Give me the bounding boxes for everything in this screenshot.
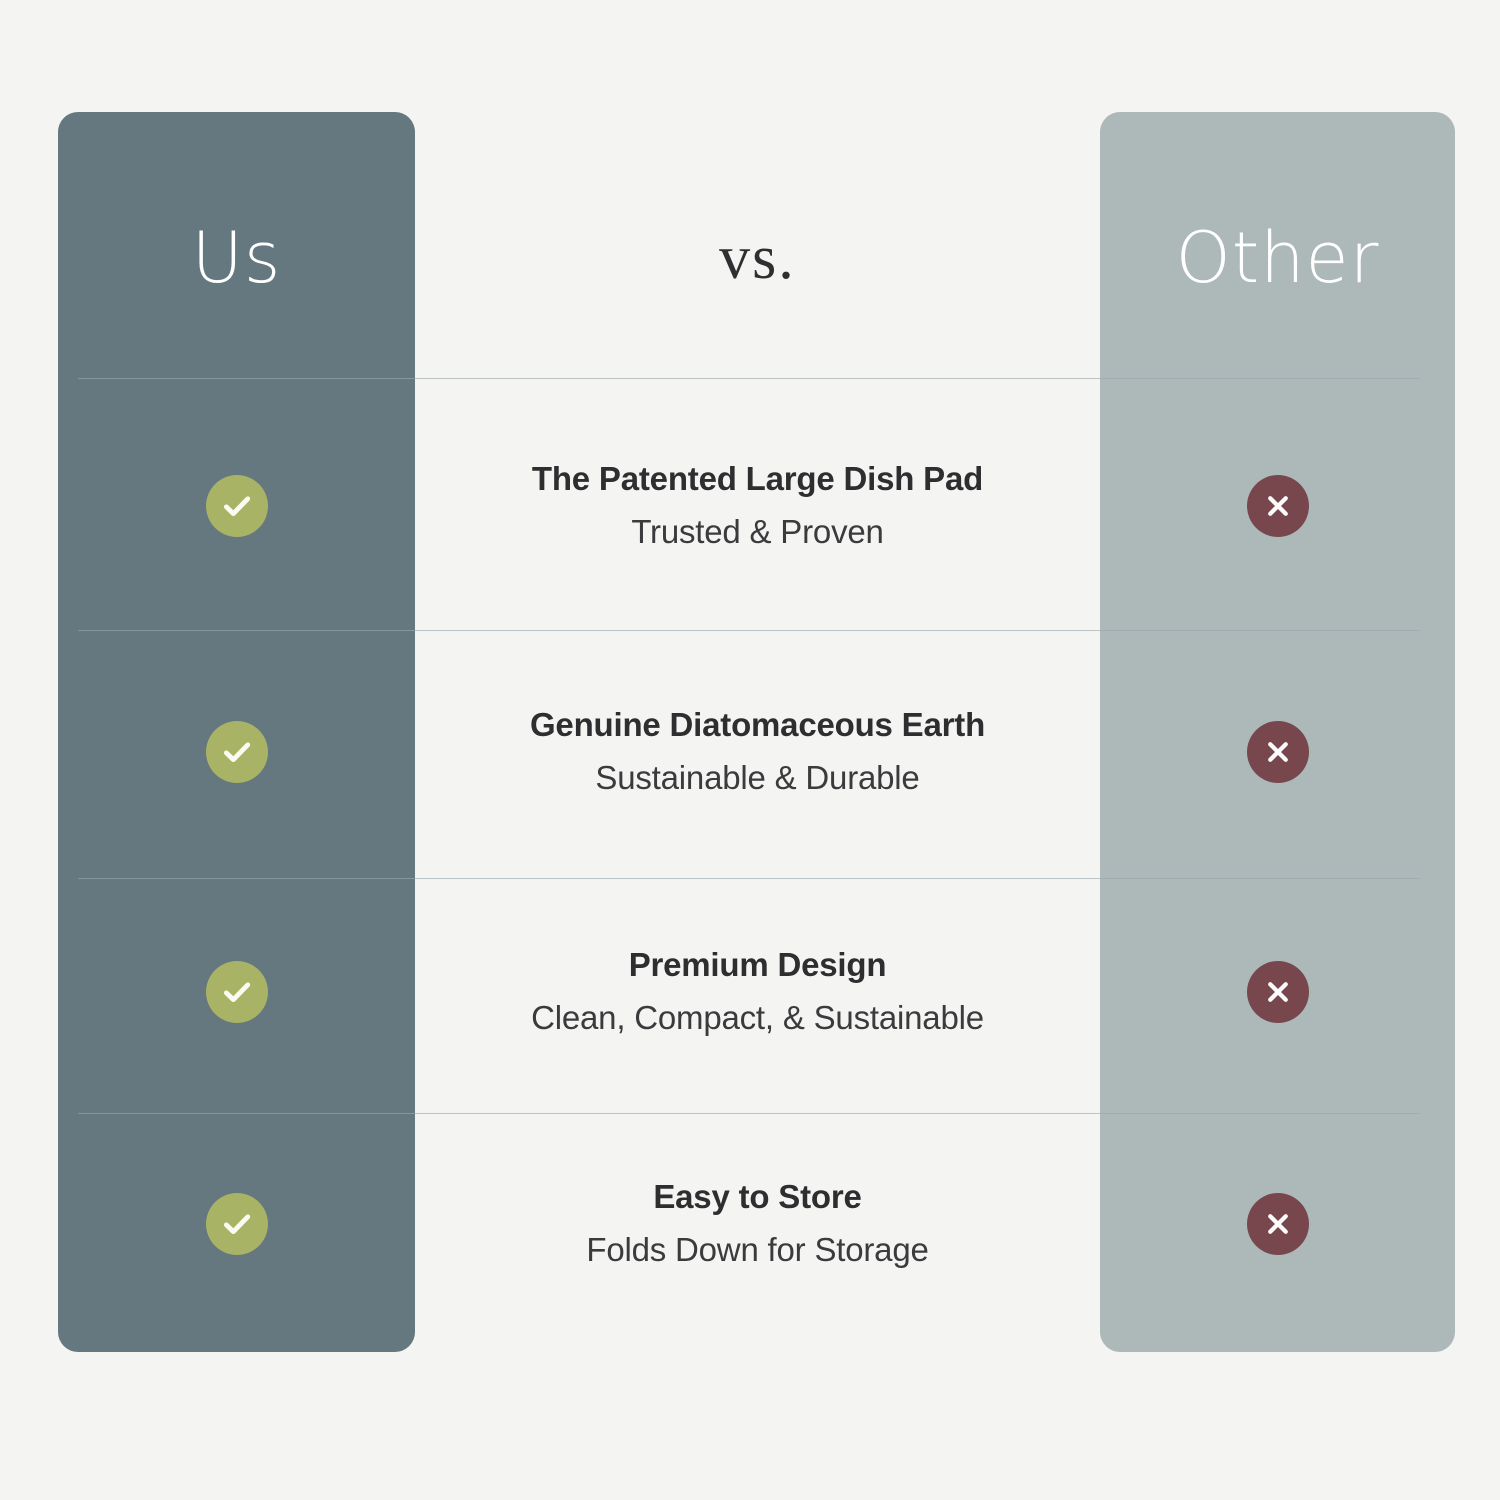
cross-icon [1247, 961, 1309, 1023]
us-mark-cell [58, 382, 415, 630]
feature-cell: Easy to Store Folds Down for Storage [415, 1100, 1100, 1348]
other-mark-cell [1100, 382, 1455, 630]
us-column-header: Us [58, 206, 415, 310]
other-column-header: Other [1100, 206, 1455, 310]
other-mark-cell [1100, 868, 1455, 1116]
feature-title: Easy to Store [653, 1178, 861, 1217]
versus-header-label: vs. [719, 227, 796, 289]
feature-subtitle: Folds Down for Storage [586, 1231, 928, 1270]
cross-icon [1247, 475, 1309, 537]
us-mark-cell [58, 1100, 415, 1348]
feature-title: Genuine Diatomaceous Earth [530, 706, 985, 745]
cross-icon [1247, 721, 1309, 783]
other-mark-cell [1100, 628, 1455, 876]
feature-subtitle: Trusted & Proven [631, 513, 883, 552]
check-icon [206, 1193, 268, 1255]
feature-subtitle: Clean, Compact, & Sustainable [531, 999, 984, 1038]
other-mark-cell [1100, 1100, 1455, 1348]
table-row: Genuine Diatomaceous Earth Sustainable &… [0, 628, 1500, 876]
us-mark-cell [58, 628, 415, 876]
check-icon [206, 721, 268, 783]
check-icon [206, 961, 268, 1023]
table-row: Premium Design Clean, Compact, & Sustain… [0, 868, 1500, 1116]
us-column-header-label: Us [192, 223, 282, 293]
other-column-header-label: Other [1176, 223, 1380, 293]
cross-icon [1247, 1193, 1309, 1255]
comparison-table: Us vs. Other The Patented Large Dish Pad… [0, 0, 1500, 1500]
feature-title: Premium Design [629, 946, 887, 985]
check-icon [206, 475, 268, 537]
feature-cell: Genuine Diatomaceous Earth Sustainable &… [415, 628, 1100, 876]
feature-cell: Premium Design Clean, Compact, & Sustain… [415, 868, 1100, 1116]
feature-cell: The Patented Large Dish Pad Trusted & Pr… [415, 382, 1100, 630]
table-row: Easy to Store Folds Down for Storage [0, 1100, 1500, 1348]
feature-title: The Patented Large Dish Pad [532, 460, 983, 499]
table-row: The Patented Large Dish Pad Trusted & Pr… [0, 382, 1500, 630]
us-mark-cell [58, 868, 415, 1116]
versus-header: vs. [415, 206, 1100, 310]
feature-subtitle: Sustainable & Durable [595, 759, 919, 798]
row-divider [78, 378, 1420, 379]
